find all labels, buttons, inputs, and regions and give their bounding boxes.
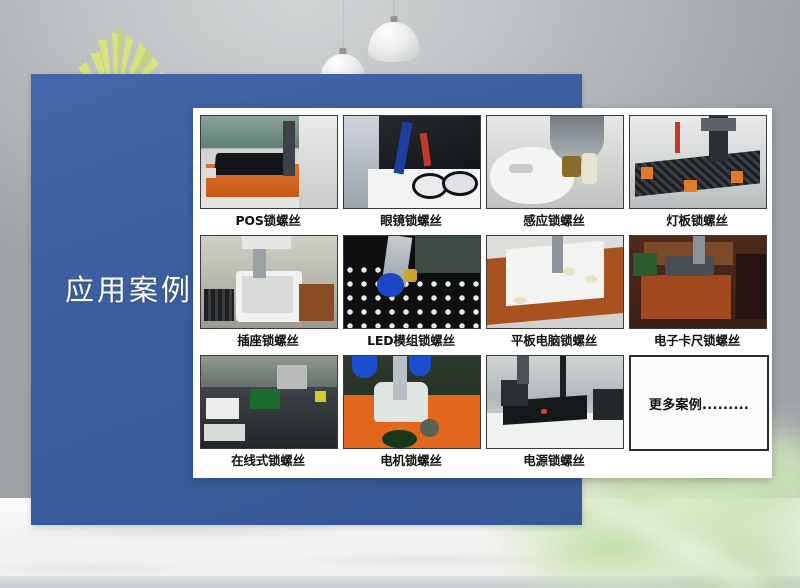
case-caption: 感应锁螺丝 [486,209,622,233]
gallery-item[interactable]: LED模组锁螺丝 [343,235,479,353]
photo-shape [665,256,714,276]
slide-canvas: 应用案例 POS锁螺丝眼镜锁螺丝感应锁螺丝灯板锁螺丝插座锁螺丝LED模组锁螺丝平… [0,0,800,588]
photo-shape [509,164,533,173]
gallery-item[interactable]: 灯板锁螺丝 [629,115,765,233]
case-caption: 插座锁螺丝 [200,329,336,353]
gallery-item[interactable]: 感应锁螺丝 [486,115,622,233]
case-photo-art [630,116,766,208]
photo-shape [352,356,376,378]
case-photo-art [201,236,337,328]
photo-shape [641,275,731,319]
photo-shape [404,269,418,282]
photo-shape [501,380,528,406]
case-caption: 电源锁螺丝 [486,449,622,473]
photo-shape [731,171,743,183]
photo-shape [377,273,404,297]
case-photo-art [201,116,337,208]
photo-shape [701,118,736,131]
case-photo-art [344,356,480,448]
photo-shape [585,275,597,283]
photo-shape [560,356,565,398]
case-photo[interactable] [486,235,624,329]
photo-shape [633,253,657,277]
photo-shape [517,356,529,384]
photo-shape [563,267,575,275]
case-caption: 平板电脑锁螺丝 [486,329,622,353]
case-photo-art [487,356,623,448]
photo-shape [206,398,239,418]
photo-shape [442,171,478,195]
photo-shape [552,236,563,273]
case-photo-art [487,236,623,328]
gallery-more-cell[interactable]: 更多案例.........更多案例......... [629,355,765,475]
photo-shape [420,419,439,437]
photo-shape [204,168,216,178]
photo-shape [541,409,546,414]
gallery-item[interactable]: 眼镜锁螺丝 [343,115,479,233]
photo-shape [382,430,417,448]
photo-shape [204,289,234,320]
photo-shape [283,121,295,176]
case-photo[interactable] [200,235,338,329]
gallery-grid: POS锁螺丝眼镜锁螺丝感应锁螺丝灯板锁螺丝插座锁螺丝LED模组锁螺丝平板电脑锁螺… [200,115,765,471]
case-photo[interactable] [486,115,624,209]
gallery-item[interactable]: 电机锁螺丝 [343,355,479,475]
page-title: 应用案例 [65,276,193,305]
case-photo[interactable] [629,115,767,209]
case-photo-art [201,356,337,448]
photo-shape [675,122,680,153]
photo-shape [394,121,412,173]
gallery-item[interactable]: 在线式锁螺丝 [200,355,336,475]
case-photo-art [344,116,480,208]
case-photo[interactable] [343,235,481,329]
case-photo[interactable] [200,115,338,209]
gallery-card: POS锁螺丝眼镜锁螺丝感应锁螺丝灯板锁螺丝插座锁螺丝LED模组锁螺丝平板电脑锁螺… [193,108,772,478]
photo-shape [582,153,597,184]
case-caption: 电子卡尺锁螺丝 [629,329,765,353]
more-cases-box: 更多案例......... [629,355,769,451]
photo-shape [419,132,430,166]
pendant-lamp-right [368,0,420,70]
photo-shape [204,424,245,441]
photo-shape [409,356,431,376]
case-photo[interactable] [486,355,624,449]
case-caption: 眼镜锁螺丝 [343,209,479,233]
photo-shape [641,167,653,179]
photo-shape [242,236,291,249]
gallery-item[interactable]: 电源锁螺丝 [486,355,622,475]
photo-shape [593,389,623,420]
case-caption: 灯板锁螺丝 [629,209,765,233]
case-caption: 电机锁螺丝 [343,449,479,473]
pendant-lamp-left [320,0,366,78]
photo-shape [315,391,326,402]
case-photo[interactable] [629,235,767,329]
photo-shape [277,365,307,389]
case-caption: POS锁螺丝 [200,209,336,233]
gallery-item[interactable]: 平板电脑锁螺丝 [486,235,622,353]
gallery-item[interactable]: POS锁螺丝 [200,115,336,233]
photo-shape [415,236,480,273]
case-photo[interactable] [343,115,481,209]
photo-shape [299,116,337,208]
photo-shape [684,180,696,192]
gallery-item[interactable]: 插座锁螺丝 [200,235,336,353]
case-photo-art [630,236,766,328]
case-photo[interactable] [343,355,481,449]
photo-shape [693,236,705,264]
photo-shape [242,276,294,313]
case-photo[interactable] [200,355,338,449]
more-cases-label: 更多案例......... [649,394,749,413]
photo-shape [250,389,280,409]
case-photo-art [487,116,623,208]
gallery-item[interactable]: 电子卡尺锁螺丝 [629,235,765,353]
case-caption: 在线式锁螺丝 [200,449,336,473]
photo-shape [393,356,407,400]
photo-shape [562,156,581,176]
case-caption: LED模组锁螺丝 [343,329,479,353]
photo-shape [736,254,766,318]
photo-shape [299,284,334,321]
case-photo-art [344,236,480,328]
